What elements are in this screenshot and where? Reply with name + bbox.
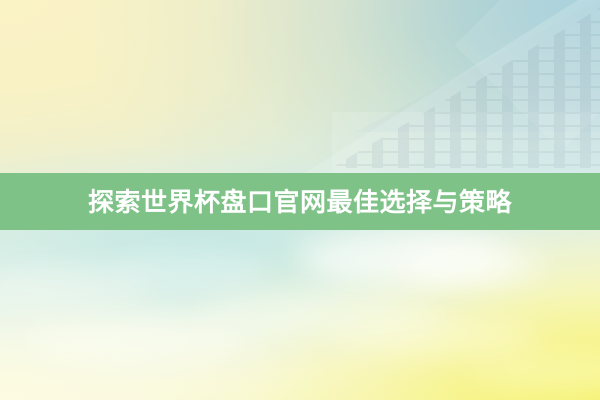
banner-title: 探索世界杯盘口官网最佳选择与策略: [88, 189, 512, 215]
banner-image: 探索世界杯盘口官网最佳选择与策略: [0, 0, 600, 400]
title-strip: 探索世界杯盘口官网最佳选择与策略: [0, 173, 600, 230]
